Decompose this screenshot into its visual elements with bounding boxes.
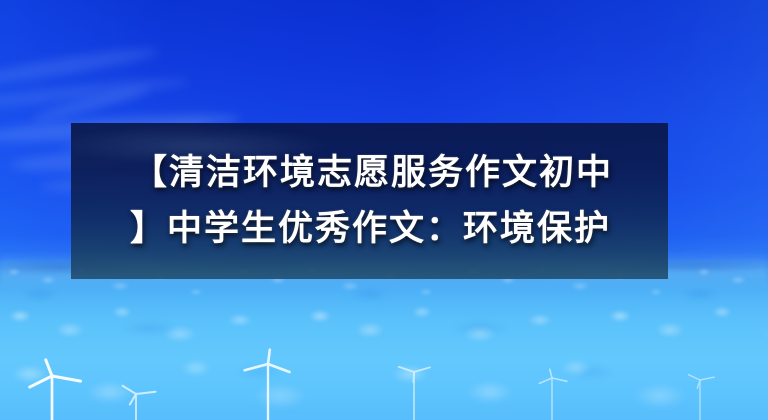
title-overlay-banner: 【清洁环境志愿服务作文初中 】中学生优秀作文：环境保护	[71, 123, 668, 279]
title-text-block: 【清洁环境志愿服务作文初中 】中学生优秀作文：环境保护	[71, 145, 668, 257]
title-line-1: 【清洁环境志愿服务作文初中	[71, 145, 668, 201]
title-line-2: 】中学生优秀作文：环境保护	[71, 201, 668, 257]
title-card-image: 【清洁环境志愿服务作文初中 】中学生优秀作文：环境保护	[0, 0, 768, 420]
cloud-puff-layer-near	[0, 352, 768, 420]
